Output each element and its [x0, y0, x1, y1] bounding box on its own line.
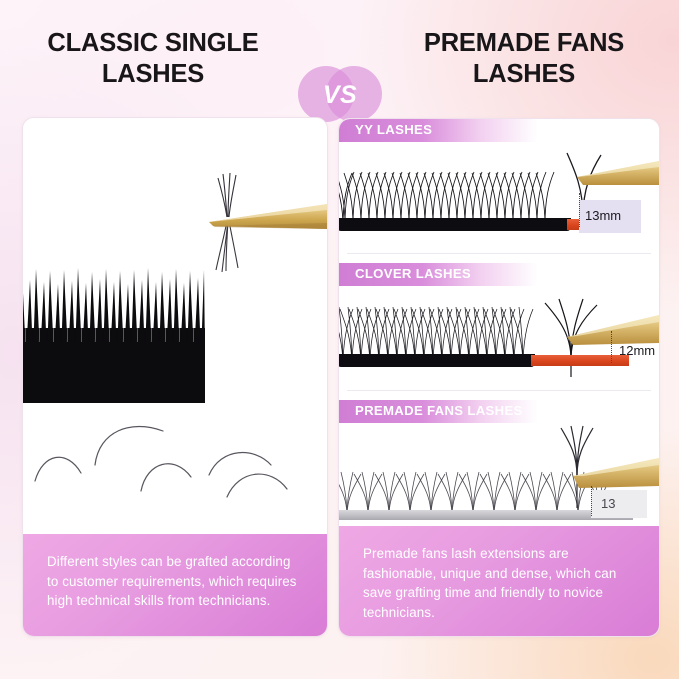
page-title-left: CLASSIC SINGLE LASHES [8, 28, 298, 90]
premade-length-box [591, 490, 647, 518]
header: CLASSIC SINGLE LASHES VS PREMADE FANS LA… [0, 28, 679, 108]
clover-measure-dotted-line [611, 331, 612, 363]
yy-strip-base-black [339, 218, 571, 231]
premade-measure-dotted-line [591, 486, 592, 516]
classic-lashes-photo: 13 [23, 118, 327, 403]
classic-lashes-caption: Different styles can be grafted accordin… [23, 534, 327, 636]
yy-length-label: 13mm [585, 208, 621, 223]
infographic-page: CLASSIC SINGLE LASHES VS PREMADE FANS LA… [0, 0, 679, 679]
premade-fans-caption: Premade fans lash extensions are fashion… [339, 526, 659, 636]
vs-label: VS [298, 66, 382, 122]
section-divider-premade [347, 390, 651, 391]
page-title-right: PREMADE FANS LASHES [379, 28, 669, 90]
premade-strip-base [339, 510, 633, 520]
yy-measure-dotted-line [579, 193, 580, 227]
section-header-clover: CLOVER LASHES [339, 263, 659, 286]
lash-strip-base [23, 342, 205, 403]
classic-lash-strip [23, 266, 205, 403]
section-divider-clover [347, 253, 651, 254]
premade-fans-caption-text: Premade fans lash extensions are fashion… [363, 544, 637, 622]
individual-lash-curves [23, 403, 327, 533]
premade-fans-lashes-card: YY LASHES [338, 118, 660, 637]
section-header-premade: PREMADE FANS LASHES [339, 400, 659, 423]
section-title-clover: CLOVER LASHES [355, 266, 471, 281]
clover-strip-base-black [339, 354, 535, 367]
yy-lashes-illustration [339, 141, 659, 253]
vs-badge: VS [298, 66, 382, 122]
section-premade-fans: PREMADE FANS LASHES [339, 390, 659, 526]
section-clover-lashes: CLOVER LASHES [339, 253, 659, 390]
classic-lashes-caption-text: Different styles can be grafted accordin… [47, 552, 305, 611]
section-yy-lashes: YY LASHES [339, 119, 659, 253]
clover-length-label: 12mm [619, 343, 655, 358]
premade-length-label: 13 [601, 496, 615, 511]
section-header-yy: YY LASHES [339, 119, 659, 142]
clover-strip-base-orange [531, 355, 629, 366]
classic-single-lashes-card: 13 [22, 117, 328, 637]
section-title-premade: PREMADE FANS LASHES [355, 403, 523, 418]
section-title-yy: YY LASHES [355, 122, 432, 137]
lash-curve-strokes [23, 403, 327, 533]
